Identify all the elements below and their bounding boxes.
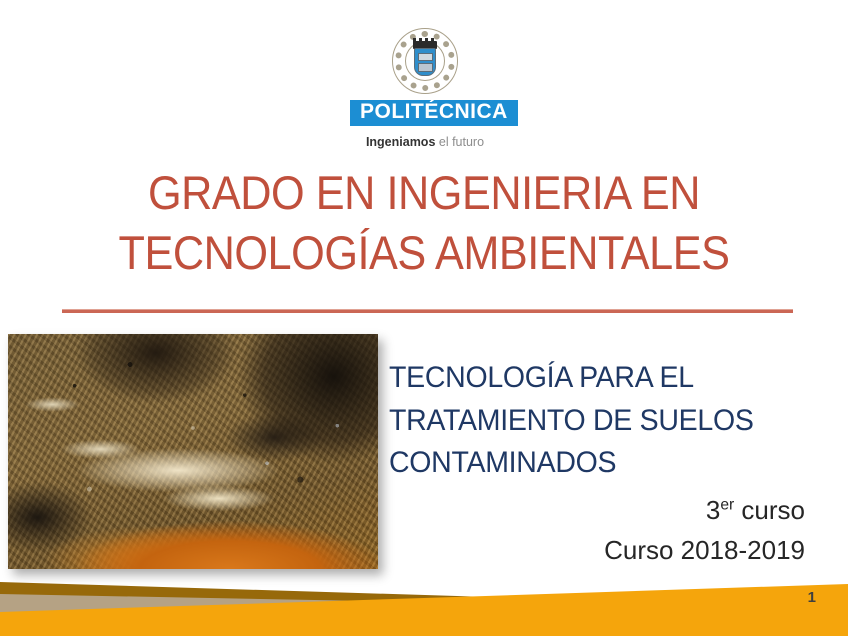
subtitle-line-1: TECNOLOGÍA PARA EL xyxy=(389,357,798,400)
footer-wedge-tan xyxy=(0,594,420,616)
subtitle-line-2: TRATAMIENTO DE SUELOS xyxy=(389,400,798,443)
tagline-strong-word: Ingeniamos xyxy=(366,135,435,149)
footer-wedge-orange xyxy=(0,584,848,636)
subtitle-line-3: CONTAMINADOS xyxy=(389,442,798,485)
academic-year: Curso 2018-2019 xyxy=(389,531,805,571)
seal-shield-icon xyxy=(414,48,436,76)
presentation-slide: POLITÉCNICA Ingeniamos el futuro GRADO E… xyxy=(0,0,848,636)
contaminated-soil-photo xyxy=(8,334,378,569)
page-title: GRADO EN INGENIERIA EN TECNOLOGÍAS AMBIE… xyxy=(34,163,814,283)
subject-subtitle: TECNOLOGÍA PARA EL TRATAMIENTO DE SUELOS… xyxy=(389,357,798,485)
upm-tagline: Ingeniamos el futuro xyxy=(350,135,500,149)
course-year-number: 3 xyxy=(706,495,720,525)
course-info: 3er curso Curso 2018-2019 xyxy=(389,491,805,570)
course-year: 3er curso xyxy=(389,491,805,531)
slide-number: 1 xyxy=(808,589,816,606)
tagline-rest: el futuro xyxy=(435,135,484,149)
politecnica-wordmark: POLITÉCNICA xyxy=(350,100,518,126)
footer-wedge-dark-gold xyxy=(0,582,848,614)
upm-seal-icon xyxy=(392,28,458,94)
course-year-suffix: er xyxy=(720,496,734,513)
title-line-1: GRADO EN INGENIERIA EN xyxy=(34,163,814,223)
photo-artwork xyxy=(8,334,378,569)
title-divider xyxy=(62,309,793,313)
course-year-word: curso xyxy=(734,495,805,525)
title-line-2: TECNOLOGÍAS AMBIENTALES xyxy=(34,223,814,283)
upm-logo-block: POLITÉCNICA Ingeniamos el futuro xyxy=(350,28,500,149)
